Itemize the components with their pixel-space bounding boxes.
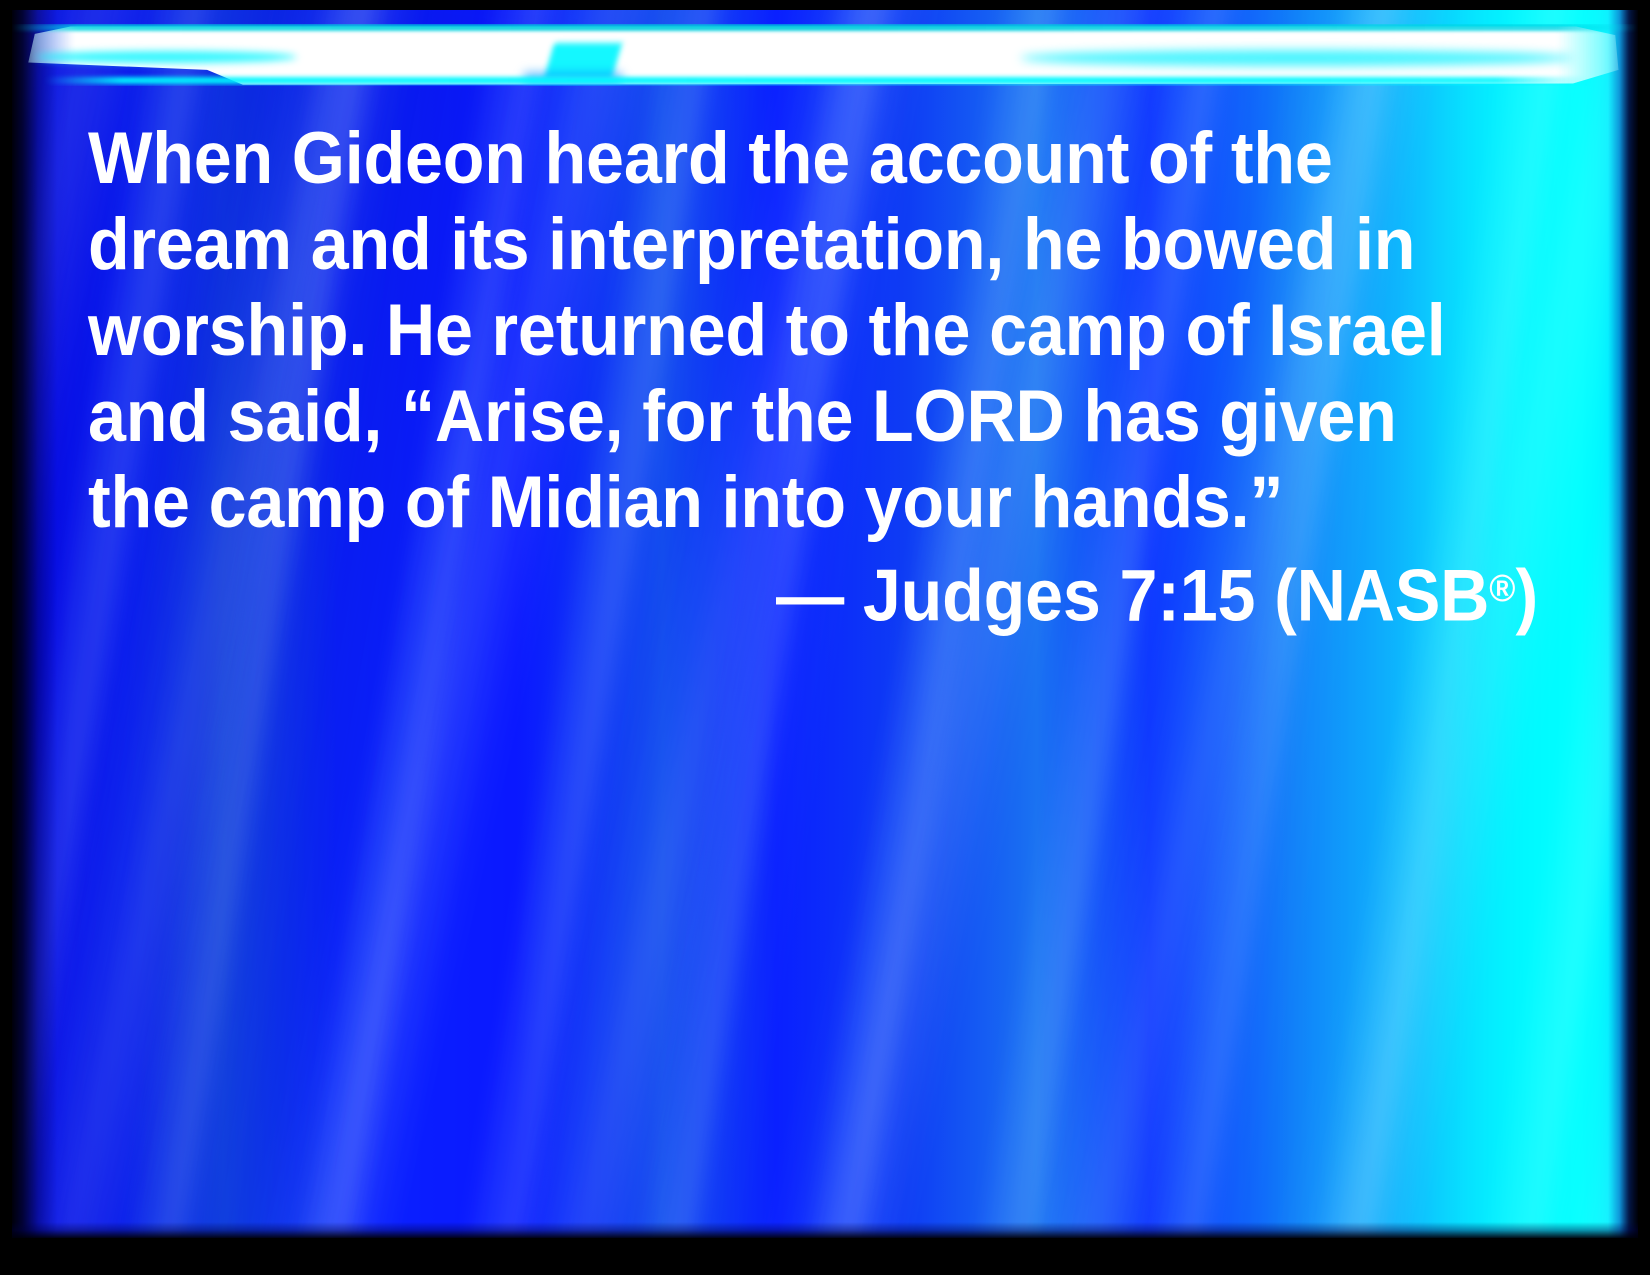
background-bottom-edge-vignette bbox=[12, 1222, 1638, 1238]
attribution-suffix: ) bbox=[1515, 556, 1538, 637]
verse-line-4: and said, “Arise, for the LORD has given bbox=[88, 374, 1444, 460]
verse-attribution: — Judges 7:15 (NASB®) bbox=[182, 546, 1538, 640]
background-left-edge-vignette bbox=[12, 10, 70, 1238]
verse-line-3: worship. He returned to the camp of Isra… bbox=[88, 288, 1444, 374]
registered-trademark-icon: ® bbox=[1489, 568, 1515, 610]
verse-line-2: dream and its interpretation, he bowed i… bbox=[88, 202, 1444, 288]
verse-text-block: When Gideon heard the account of the dre… bbox=[88, 116, 1538, 640]
background-right-edge-vignette bbox=[1608, 10, 1638, 1238]
attribution-prefix: — Judges 7:15 (NASB bbox=[776, 556, 1489, 637]
verse-line-5: the camp of Midian into your hands.” bbox=[88, 460, 1444, 546]
verse-line-1: When Gideon heard the account of the bbox=[88, 116, 1444, 202]
slide-frame: When Gideon heard the account of the dre… bbox=[0, 0, 1650, 1275]
